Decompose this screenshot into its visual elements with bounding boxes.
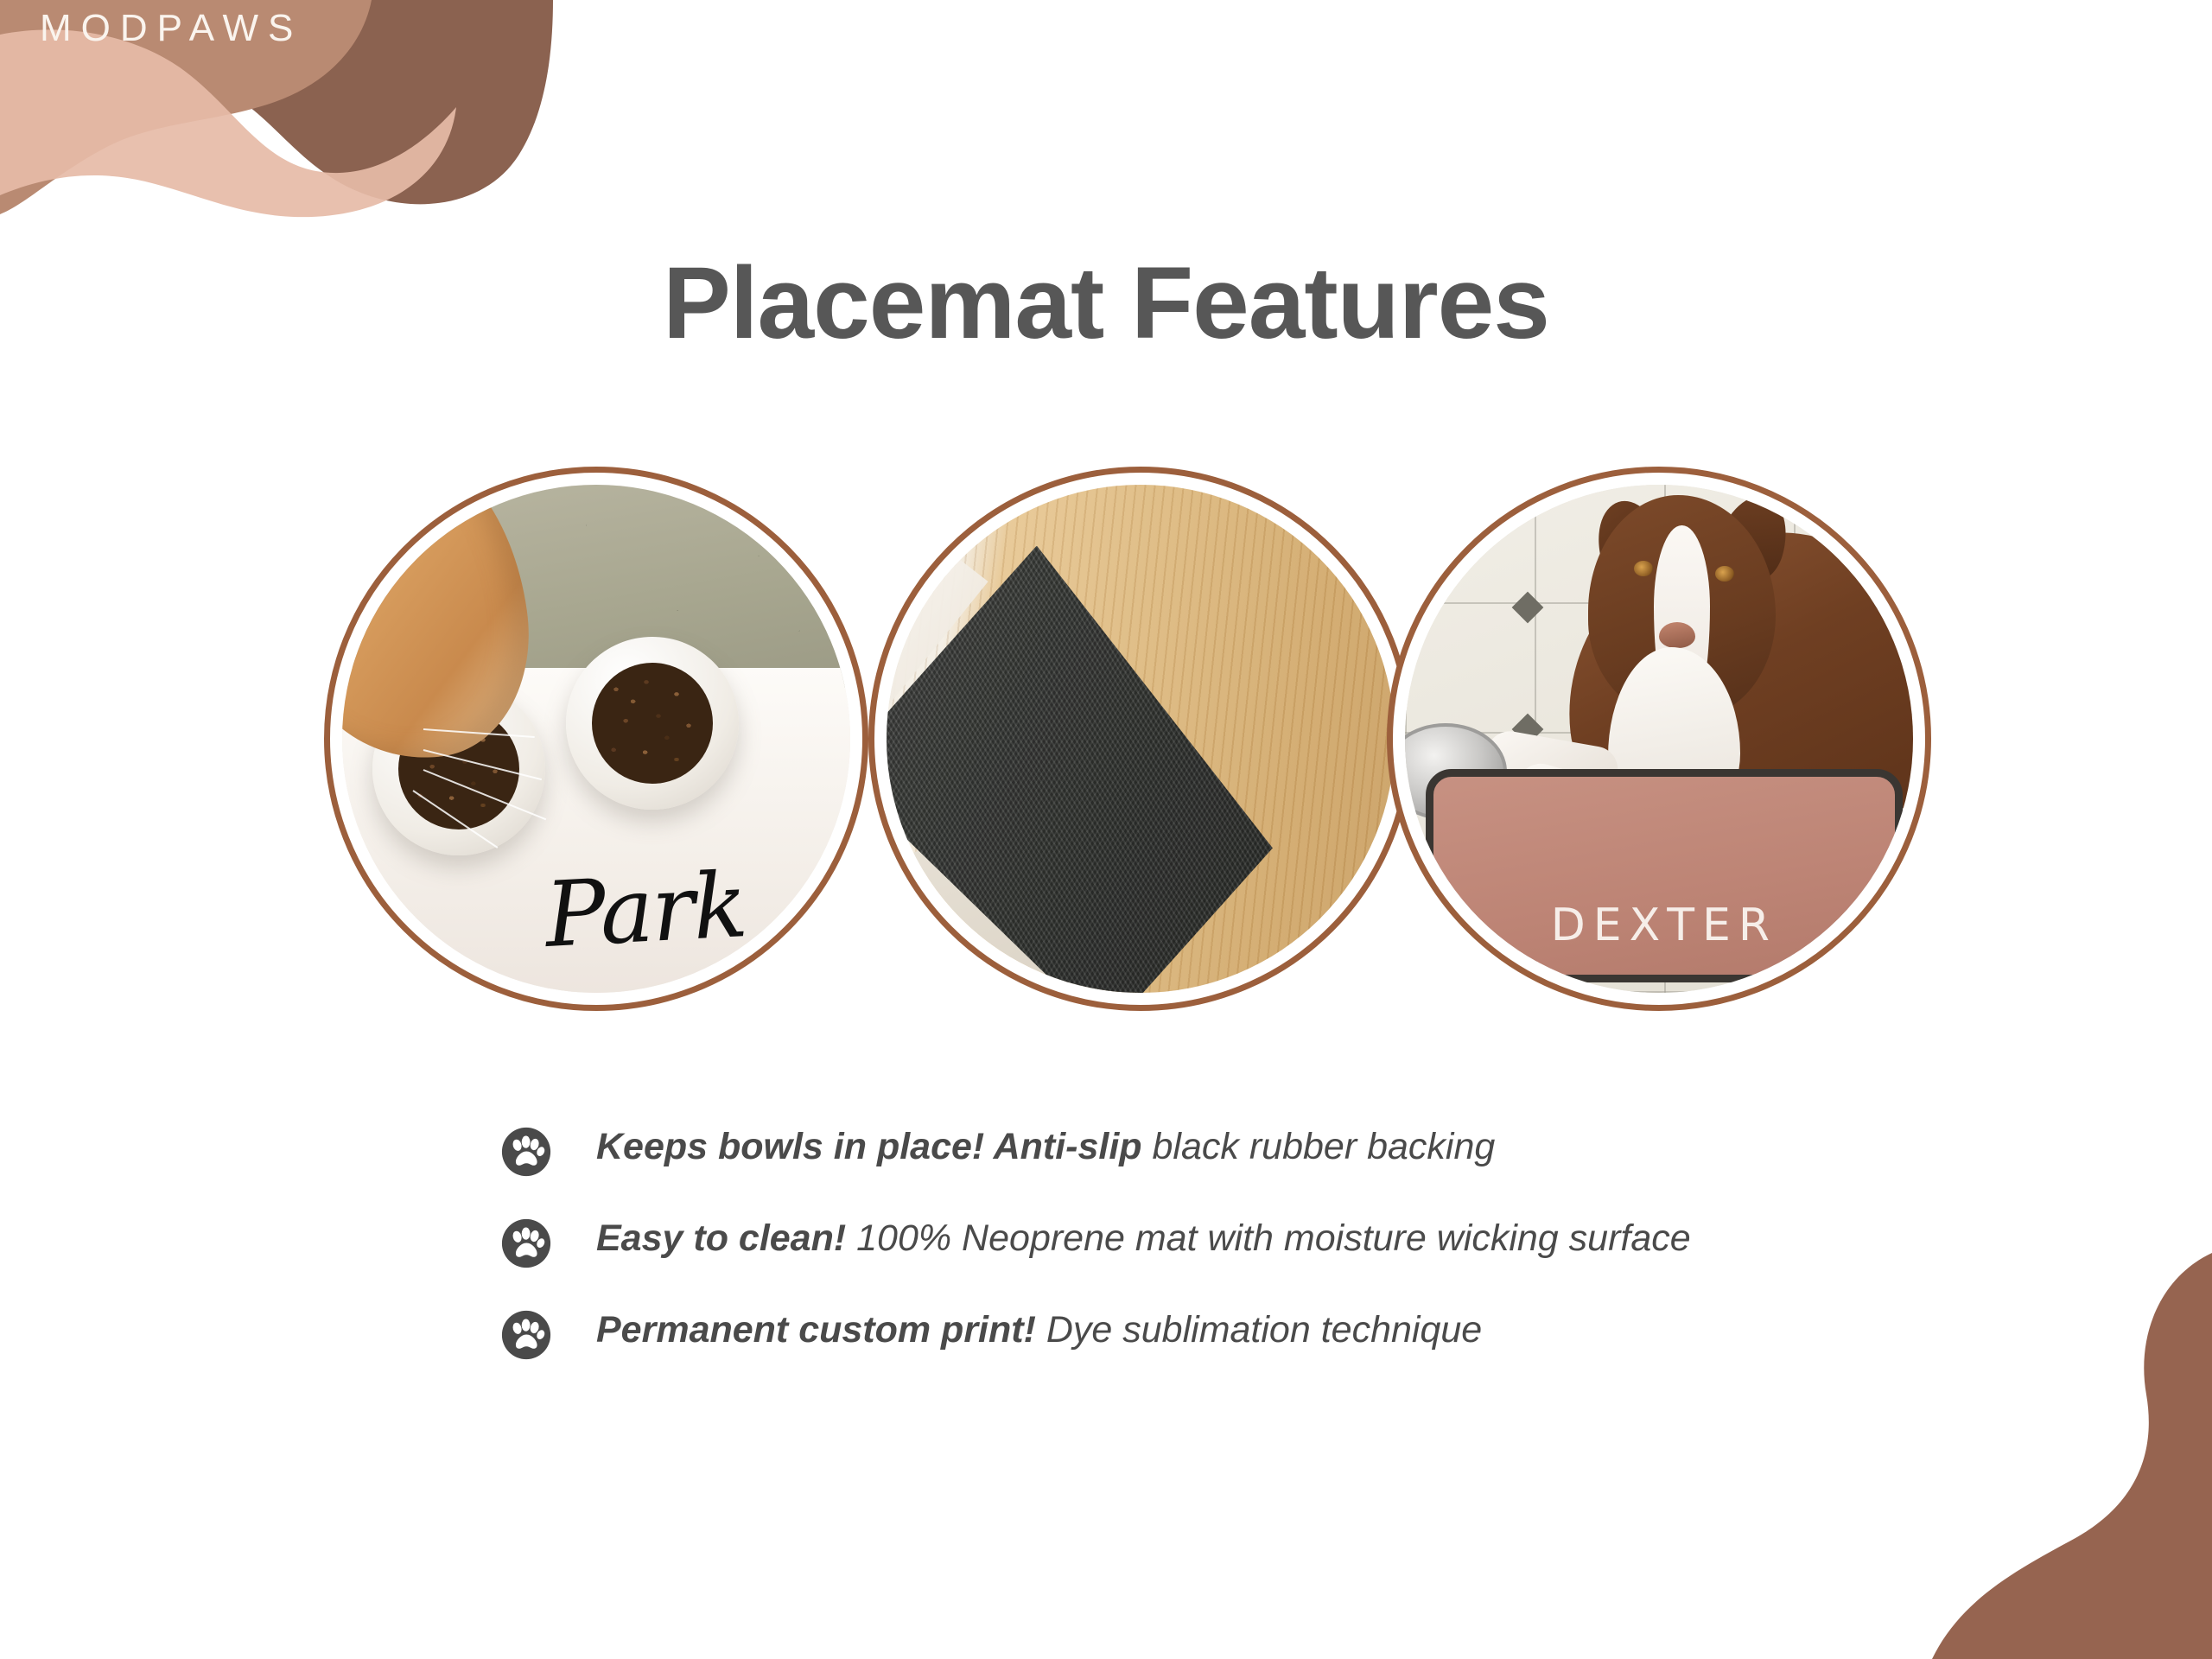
cat-ear [360, 485, 429, 518]
feature-item: Easy to clean! 100% Neoprene mat with mo… [501, 1215, 1815, 1268]
photo-frame [887, 485, 1395, 993]
photo-circle-cat-bowls: Park [324, 467, 868, 1011]
feature-text: Keeps bowls in place! Anti-slip black ru… [596, 1123, 1495, 1172]
paw-icon [501, 1127, 551, 1177]
placemat-name-overlay: Park [543, 852, 748, 968]
feature-rest: Dye sublimation technique [1036, 1309, 1482, 1351]
food-bowl-right [566, 637, 739, 810]
dog-eye-right [1715, 566, 1734, 582]
slide-canvas: MODPAWS Placemat Features [0, 0, 2212, 1659]
tan-placemat: DEXTER [1426, 769, 1904, 982]
kibble [592, 663, 713, 784]
feature-lead: Easy to clean! [596, 1217, 846, 1259]
brand-wordmark: MODPAWS [40, 7, 302, 51]
feature-rest: black rubber backing [1142, 1126, 1496, 1167]
photo-circle-rubber-backing [868, 467, 1413, 1011]
dog-eye-left [1634, 561, 1653, 576]
photo-dog-mat: DEXTER [1405, 485, 1913, 993]
blob-bottom-right-shape [1932, 1253, 2212, 1659]
photo-frame: DEXTER [1405, 485, 1913, 993]
photo-circle-dog-mat: DEXTER [1387, 467, 1931, 1011]
page-title: Placemat Features [0, 251, 2212, 358]
photo-cat-bowls: Park [342, 485, 850, 993]
placemat-name-overlay: DEXTER [1433, 899, 1896, 951]
feature-text: Permanent custom print! Dye sublimation … [596, 1306, 1482, 1355]
feature-rest: 100% Neoprene mat with moisture wicking … [846, 1217, 1691, 1259]
feature-list: Keeps bowls in place! Anti-slip black ru… [501, 1123, 1815, 1360]
photo-circle-row: Park [0, 467, 2212, 1020]
feature-item: Permanent custom print! Dye sublimation … [501, 1306, 1815, 1360]
blob-light-pink-shape [0, 29, 456, 217]
feature-text: Easy to clean! 100% Neoprene mat with mo… [596, 1215, 1691, 1263]
dog-nose [1659, 622, 1695, 648]
paw-icon [501, 1310, 551, 1360]
feature-item: Keeps bowls in place! Anti-slip black ru… [501, 1123, 1815, 1177]
photo-rubber-backing [887, 485, 1395, 993]
feature-lead: Keeps bowls in place! Anti-slip [596, 1126, 1142, 1167]
paw-icon [501, 1218, 551, 1268]
feature-lead: Permanent custom print! [596, 1309, 1036, 1351]
photo-frame: Park [342, 485, 850, 993]
bottom-right-blob-group [1849, 1253, 2212, 1659]
